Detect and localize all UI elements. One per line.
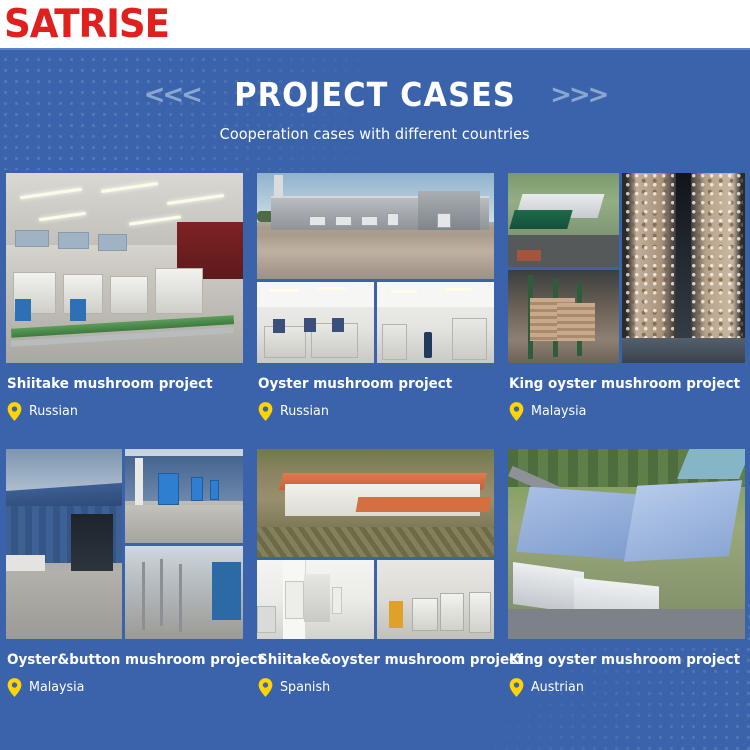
project-card[interactable]: Shiitake&oyster mushroom project Spanish — [254, 446, 497, 716]
project-caption: Oyster mushroom project Russian — [254, 366, 497, 421]
photo-warehouse-interior — [125, 546, 243, 640]
project-title: Shiitake mushroom project — [7, 376, 226, 393]
project-cases-grid: Shiitake mushroom project Russian — [0, 170, 750, 716]
photo-production-line — [6, 173, 243, 363]
location-pin-icon — [509, 402, 524, 421]
project-title: Oyster&button mushroom project — [7, 652, 226, 669]
photo-aerial-facility — [508, 173, 619, 267]
project-location: Malaysia — [7, 678, 242, 697]
project-location: Russian — [258, 402, 493, 421]
project-photo-king-oyster-austria[interactable] — [505, 446, 748, 642]
project-card[interactable]: Shiitake mushroom project Russian — [3, 170, 246, 440]
project-country: Malaysia — [531, 403, 586, 419]
project-location: Malaysia — [509, 402, 744, 421]
project-title: King oyster mushroom project — [509, 652, 728, 669]
photo-warehouse-doors — [125, 449, 243, 543]
banner-header: <<< PROJECT CASES >>> Cooperation cases … — [0, 48, 750, 170]
chevrons-right-icon: >>> — [550, 82, 606, 108]
photo-interior-equipment-a — [257, 282, 374, 363]
location-pin-icon — [7, 402, 22, 421]
project-country: Spanish — [280, 679, 330, 695]
page-subtitle: Cooperation cases with different countri… — [220, 125, 530, 143]
project-photo-king-oyster-malaysia[interactable] — [505, 170, 748, 366]
project-location: Austrian — [509, 678, 744, 697]
project-caption: Shiitake mushroom project Russian — [3, 366, 246, 421]
project-country: Russian — [29, 403, 78, 419]
photo-aerial-plant — [508, 449, 745, 639]
project-country: Russian — [280, 403, 329, 419]
photo-blue-warehouse — [6, 449, 122, 639]
location-pin-icon — [258, 402, 273, 421]
project-caption: Oyster&button mushroom project Malaysia — [3, 642, 246, 697]
project-photo-shiitake-oyster-spain[interactable] — [254, 446, 497, 642]
project-photo-shiitake-line[interactable] — [3, 170, 246, 366]
project-caption: King oyster mushroom project Malaysia — [505, 366, 748, 421]
photo-corridor — [257, 560, 374, 639]
project-country: Austrian — [531, 679, 584, 695]
project-card[interactable]: Oyster mushroom project Russian — [254, 170, 497, 440]
location-pin-icon — [7, 678, 22, 697]
logo-bar: SATRISE — [0, 0, 750, 48]
photo-growing-racks — [508, 270, 619, 364]
project-caption: Shiitake&oyster mushroom project Spanish — [254, 642, 497, 697]
project-country: Malaysia — [29, 679, 84, 695]
page-title: PROJECT CASES — [234, 75, 516, 114]
project-cases-panel: <<< PROJECT CASES >>> Cooperation cases … — [0, 48, 750, 750]
photo-interior-equipment-b — [377, 282, 494, 363]
project-location: Spanish — [258, 678, 493, 697]
project-card[interactable]: King oyster mushroom project Malaysia — [505, 170, 748, 440]
project-caption: King oyster mushroom project Austrian — [505, 642, 748, 697]
project-title: Oyster mushroom project — [258, 376, 477, 393]
photo-machine-room — [377, 560, 494, 639]
photo-factory-exterior — [257, 173, 494, 279]
location-pin-icon — [258, 678, 273, 697]
chevrons-left-icon: <<< — [144, 82, 200, 108]
banner-title-row: <<< PROJECT CASES >>> — [144, 75, 607, 114]
project-title: King oyster mushroom project — [509, 376, 728, 393]
photo-hillside-facility — [257, 449, 494, 557]
project-location: Russian — [7, 402, 242, 421]
location-pin-icon — [509, 678, 524, 697]
photo-mushroom-columns — [622, 173, 745, 363]
project-card[interactable]: Oyster&button mushroom project Malaysia — [3, 446, 246, 716]
project-card[interactable]: King oyster mushroom project Austrian — [505, 446, 748, 716]
satrise-logo[interactable]: SATRISE — [4, 5, 169, 44]
project-photo-oyster-facility[interactable] — [254, 170, 497, 366]
project-photo-oyster-button-warehouse[interactable] — [3, 446, 246, 642]
project-title: Shiitake&oyster mushroom project — [258, 652, 477, 669]
